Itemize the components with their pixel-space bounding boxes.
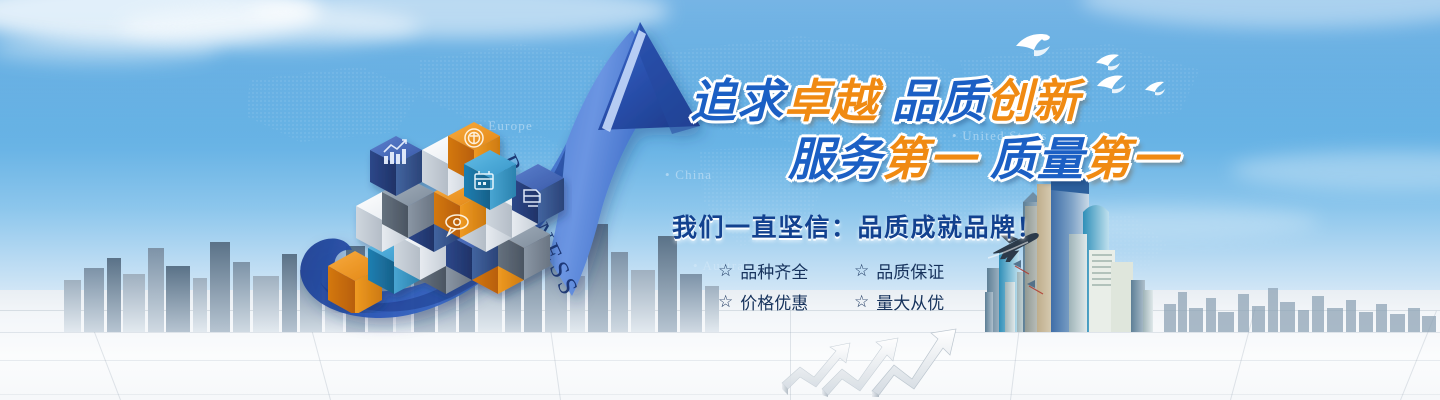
feature-list: ☆ 品种齐全 ☆ 品质保证 ☆ 价格优惠 ☆ 量大从优 [718, 255, 972, 317]
headline-word-orange: 第一 [882, 132, 976, 186]
feature-item: ☆ 价格优惠 [718, 286, 836, 317]
headline-word-blue: 服务 [788, 132, 882, 186]
subtitle-text: 我们一直坚信：品质成就品牌！ [672, 208, 1043, 244]
cloud-shape [0, 0, 320, 44]
feature-label: 量大从优 [876, 289, 944, 314]
cloud-shape [0, 34, 220, 64]
star-icon: ☆ [718, 293, 733, 310]
cloud-shape [250, 0, 670, 38]
headline-word-orange: 第一 [1084, 132, 1178, 186]
headline-word-orange: 卓越 [784, 74, 878, 128]
dove-icon [1093, 52, 1123, 72]
star-icon: ☆ [854, 293, 869, 310]
headline-word-blue: 质量 [990, 132, 1084, 186]
cloud-shape [120, 6, 420, 48]
cloud-shape [1230, 150, 1440, 190]
star-icon: ☆ [854, 262, 869, 279]
star-icon: ☆ [718, 262, 733, 279]
hero-banner: Europe United States China Australia [0, 0, 1440, 400]
feature-item: ☆ 量大从优 [854, 286, 972, 317]
feature-item: ☆ 品质保证 [854, 255, 972, 286]
rubiks-cube-graphic [322, 98, 572, 313]
headline-word-blue: 品质 [892, 74, 986, 128]
feature-label: 价格优惠 [740, 289, 808, 314]
cloud-shape [1080, 0, 1440, 28]
feature-item: ☆ 品种齐全 [718, 255, 836, 286]
feature-label: 品种齐全 [740, 258, 808, 283]
headline-word-orange: 创新 [986, 74, 1080, 128]
feature-label: 品质保证 [876, 258, 944, 283]
headline-line-2: 服务第一质量第一 [690, 130, 1210, 188]
dove-icon [1010, 30, 1056, 60]
headline-line-1: 追求卓越品质创新 [690, 72, 1210, 130]
headline-block: 追求卓越品质创新 服务第一质量第一 [690, 72, 1210, 188]
headline-word-blue: 追求 [690, 74, 784, 128]
